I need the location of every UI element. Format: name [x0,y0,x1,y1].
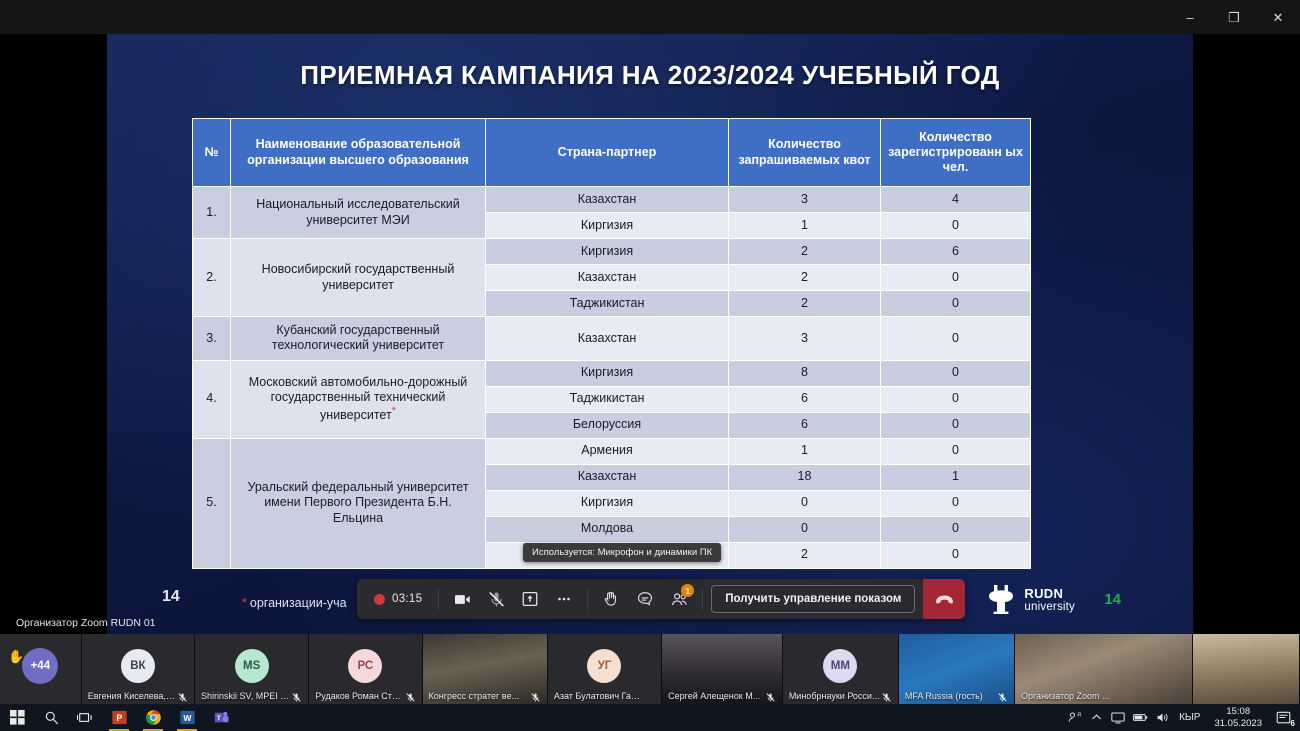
task-view-icon [77,711,93,725]
action-center-button[interactable]: 6 [1270,704,1296,731]
table-row: 4.Московский автомобильно-дорожный госуд… [193,360,1031,386]
recording-dot-icon [374,594,385,605]
people-share-icon: R [1068,711,1081,724]
cell-quota: 6 [729,412,881,438]
chrome-icon [145,709,162,726]
taskbar-item-powerpoint[interactable]: P [102,704,136,731]
cell-country: Киргизия [486,360,729,386]
th-country: Страна-партнер [486,119,729,187]
slide-number-right: 14 [1104,591,1121,608]
th-quota-requested: Количество запрашиваемых квот [729,119,881,187]
cell-institution-name: Уральский федеральный университет имени … [231,438,486,568]
participant-filmstrip: +44✋ВКЕвгения Киселева, В...MSShirinskii… [0,634,1300,704]
cell-registered: 0 [881,490,1031,516]
avatar: ВК [121,649,155,683]
camera-button[interactable] [445,582,479,616]
rudn-emblem-icon [986,584,1016,616]
end-call-button[interactable] [923,579,965,619]
participant-name: Конгресс стратег ве... [429,691,519,701]
cell-quota: 6 [729,386,881,412]
share-screen-button[interactable] [513,582,547,616]
svg-text:R: R [1077,713,1081,719]
cell-country: Казахстан [486,187,729,213]
system-tray: R [1063,704,1300,731]
table-body: 1.Национальный исследовательский универс… [193,187,1031,569]
participant-tile[interactable]: +44✋ [0,634,82,704]
th-registered: Количество зарегистрированн ых чел. [881,119,1031,187]
participant-name: MFA Russia (гость) [905,691,983,701]
cell-row-number: 3. [193,317,231,361]
clock-date: 31.05.2023 [1214,718,1262,730]
microphone-muted-icon [997,690,1008,701]
participant-tile[interactable]: УГАзат Булатович Гали... [548,634,662,704]
battery-icon [1133,712,1148,723]
participant-tile[interactable]: MSShirinskii SV, MPEI (г... [195,634,309,704]
cell-quota: 3 [729,187,881,213]
cell-country: Казахстан [486,317,729,361]
chat-icon [636,590,654,608]
search-icon [44,710,59,725]
meeting-toolbar: 03:15 [357,579,965,619]
cell-country: Армения [486,438,729,464]
avatar: +44 [22,648,58,684]
shared-screen-stage: ПРИЕМНАЯ КАМПАНИЯ НА 2023/2024 УЧЕБНЫЙ Г… [0,34,1300,634]
restore-button[interactable]: ❐ [1212,0,1256,34]
cell-institution-name: Новосибирский государственный университе… [231,239,486,317]
svg-text:W: W [183,713,192,723]
table-row: 5.Уральский федеральный университет имен… [193,438,1031,464]
participant-tile[interactable]: MFA Russia (гость) [899,634,1015,704]
table-row: 3.Кубанский государственный технологичес… [193,317,1031,361]
cell-row-number: 2. [193,239,231,317]
powerpoint-icon: P [111,709,128,726]
recording-indicator[interactable]: 03:15 [357,579,438,619]
cell-institution-name: Московский автомобильно-дорожный государ… [231,360,486,438]
cell-registered: 0 [881,412,1031,438]
th-institution: Наименование образовательной организации… [231,119,486,187]
cell-quota: 8 [729,360,881,386]
cell-registered: 0 [881,360,1031,386]
share-screen-icon [521,590,539,608]
cell-quota: 3 [729,317,881,361]
svg-text:P: P [116,713,122,723]
clock-time: 15:08 [1214,706,1262,718]
microphone-muted-icon [177,690,188,701]
microphone-muted-icon [405,690,416,701]
svg-text:T: T [216,715,220,722]
cell-registered: 0 [881,213,1031,239]
participant-name: Минобрнауки Росси... [789,691,880,701]
microphone-muted-button[interactable] [479,582,513,616]
cell-country: Киргизия [486,213,729,239]
footnote-asterisk: * [242,596,247,610]
cell-quota: 18 [729,464,881,490]
ellipsis-icon [555,590,573,608]
microphone-muted-icon [881,690,892,701]
avatar: MS [235,649,269,683]
taskbar-item-teams[interactable]: T [204,704,238,731]
zoom-meeting-window: – ❐ ✕ ПРИЕМНАЯ КАМПАНИЯ НА 2023/2024 УЧЕ… [0,0,1300,731]
request-remote-control-button[interactable]: Получить управление показом [711,585,915,613]
microphone-muted-icon [291,690,302,701]
rudn-wordmark: RUDN university [1024,587,1075,613]
cell-quota: 2 [729,542,881,568]
cell-quota: 1 [729,213,881,239]
participant-name: Организатор Zoom ... [1021,691,1110,701]
taskbar-item-word[interactable]: W [170,704,204,731]
cell-registered: 0 [881,317,1031,361]
cell-registered: 4 [881,187,1031,213]
camera-icon [453,590,472,609]
taskbar-item-chrome[interactable] [136,704,170,731]
participant-name: Shirinskii SV, MPEI (г... [201,691,290,701]
raise-hand-button[interactable] [594,582,628,616]
table-row: 1.Национальный исследовательский универс… [193,187,1031,213]
cell-country: Таджикистан [486,386,729,412]
tray-display-icon[interactable] [1107,704,1129,731]
raise-hand-icon [602,590,620,608]
raised-hand-icon: ✋ [8,650,24,663]
teams-icon: T [213,709,230,726]
cell-quota: 2 [729,265,881,291]
search-button[interactable] [34,704,68,731]
footnote-asterisk-icon: * [392,405,396,417]
participant-name: Сергей Алещенок М... [668,691,760,701]
toolbar-divider-3 [702,588,703,610]
slide-number-left: 14 [162,588,180,606]
cell-quota: 0 [729,516,881,542]
notification-count: 6 [1291,719,1295,728]
cell-row-number: 4. [193,360,231,438]
window-titlebar: – ❐ ✕ [0,0,1300,34]
windows-taskbar: P W T [0,704,1300,731]
participant-name: Азат Булатович Гали... [554,691,643,701]
start-button[interactable] [0,704,34,731]
cell-registered: 0 [881,291,1031,317]
cell-country: Таджикистан [486,291,729,317]
tray-volume-icon[interactable] [1151,704,1173,731]
chevron-up-icon [1091,712,1102,723]
slide-footnote: *организации-уча [242,596,347,610]
chat-button[interactable] [628,582,662,616]
microphone-muted-icon [765,690,776,701]
cell-registered: 0 [881,265,1031,291]
participant-tile[interactable]: РСРудаков Роман Стан... [309,634,422,704]
cell-registered: 6 [881,239,1031,265]
participant-tile[interactable]: Сергей Алещенок М... [662,634,783,704]
cell-country: Белоруссия [486,412,729,438]
cell-quota: 0 [729,490,881,516]
admissions-table: № Наименование образовательной организац… [192,118,1031,569]
word-icon: W [179,709,196,726]
monitor-icon [1111,712,1125,724]
participant-tile[interactable]: Организатор Zoom ... [1015,634,1193,704]
rudn-name: RUDN [1024,586,1063,601]
cell-quota: 1 [729,438,881,464]
participants-badge: 1 [681,584,694,597]
cell-quota: 2 [729,291,881,317]
more-options-button[interactable] [547,582,581,616]
task-view-button[interactable] [68,704,102,731]
host-name-label: Организатор Zoom RUDN 01 [16,617,156,629]
participant-name: Рудаков Роман Стан... [315,691,403,701]
audio-device-tooltip: Используется: Микрофон и динамики ПК [523,543,721,562]
cell-registered: 0 [881,516,1031,542]
notification-icon [1276,710,1291,725]
tray-expand-icon[interactable] [1085,704,1107,731]
rudn-logo: RUDN university [986,584,1075,616]
admissions-table-wrapper: № Наименование образовательной организац… [192,118,1030,569]
cell-country: Казахстан [486,265,729,291]
phone-hangup-icon [934,589,955,610]
cell-registered: 1 [881,464,1031,490]
participant-name: Евгения Киселева, В... [88,691,176,701]
close-button[interactable]: ✕ [1256,0,1300,34]
recording-timer: 03:15 [392,593,422,605]
speaker-icon [1156,711,1169,724]
cell-row-number: 5. [193,438,231,568]
cell-registered: 0 [881,438,1031,464]
cell-institution-name: Кубанский государственный технологически… [231,317,486,361]
th-number: № [193,119,231,187]
cell-country: Молдова [486,516,729,542]
participant-tile[interactable] [1193,634,1300,704]
table-header: № Наименование образовательной организац… [193,119,1031,187]
participants-button[interactable]: 1 [662,582,696,616]
page-title: ПРИЕМНАЯ КАМПАНИЯ НА 2023/2024 УЧЕБНЫЙ Г… [107,60,1193,91]
tray-people-icon[interactable]: R [1063,704,1085,731]
avatar: УГ [587,649,621,683]
rudn-sub: university [1024,601,1075,613]
footnote-text: организации-уча [250,596,347,610]
avatar: РС [348,649,382,683]
tray-battery-icon[interactable] [1129,704,1151,731]
cell-institution-name: Национальный исследовательский университ… [231,187,486,239]
participant-tile[interactable]: МММинобрнауки Росси... [783,634,899,704]
avatar: ММ [823,649,857,683]
tray-language-indicator[interactable]: КЫР [1173,712,1206,723]
participant-tile[interactable]: ВКЕвгения Киселева, В... [82,634,195,704]
cell-row-number: 1. [193,187,231,239]
cell-quota: 2 [729,239,881,265]
microphone-muted-icon [530,690,541,701]
cell-registered: 0 [881,542,1031,568]
cell-country: Казахстан [486,464,729,490]
participant-tile[interactable]: Конгресс стратег ве... [423,634,548,704]
cell-registered: 0 [881,386,1031,412]
tray-clock[interactable]: 15:08 31.05.2023 [1206,704,1270,731]
microphone-muted-icon [487,590,506,609]
cell-country: Киргизия [486,490,729,516]
table-row: 2.Новосибирский государственный универси… [193,239,1031,265]
windows-start-icon [10,710,25,725]
minimize-button[interactable]: – [1168,0,1212,34]
cell-country: Киргизия [486,239,729,265]
